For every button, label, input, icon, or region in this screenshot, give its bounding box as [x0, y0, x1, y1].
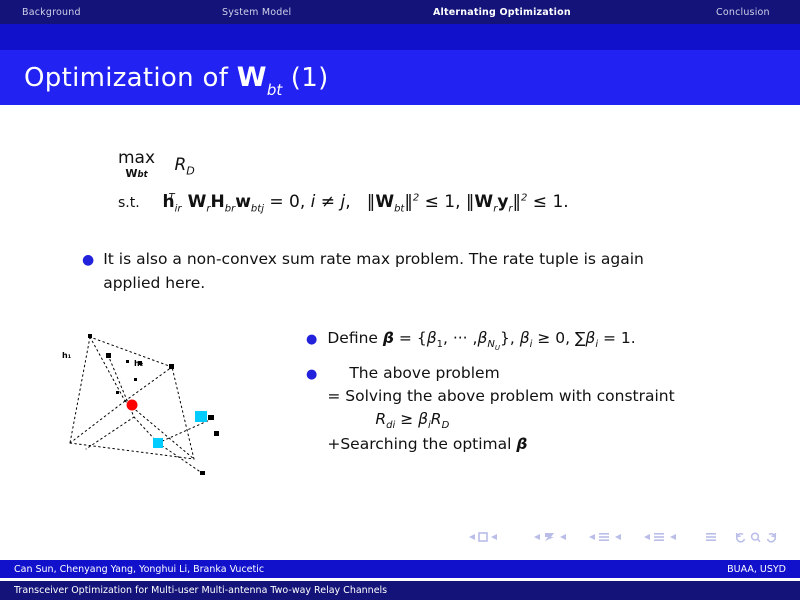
slide-prev-icon [469, 534, 475, 540]
constraint-expression: hirTWrHbrwbtj = 0, i ≠ j, ‖Wbt‖2 ≤ 1, ‖W… [163, 192, 569, 212]
page-title-suffix: (1) [282, 63, 328, 93]
footer-title-bar: Transceiver Optimization for Multi-user … [0, 581, 800, 600]
history-group[interactable] [734, 530, 778, 544]
page-title-subscript: bt [267, 81, 282, 99]
nav-slot-background[interactable]: Background [22, 7, 81, 18]
page-title-prefix: Optimization of [24, 63, 237, 93]
max-operator: max [118, 150, 155, 167]
page-title: Optimization of Wbt (1) [24, 62, 329, 96]
nav-item-background[interactable]: Background [22, 7, 81, 18]
bullet-icon: ● [306, 368, 317, 381]
list-item: ● It is also a non-convex sum rate max p… [82, 247, 702, 295]
above-problem-line3: Rdi ≥ βiRD R_di ≥ βᵢ R_D [327, 408, 674, 433]
footer-authors: Can Sun, Chenyang Yang, Yonghui Li, Bran… [14, 564, 264, 575]
section-current-icon [654, 533, 664, 541]
footer-authors-bar: Can Sun, Chenyang Yang, Yonghui Li, Bran… [0, 560, 800, 578]
back-icon [737, 534, 745, 542]
bullet-icon: ● [306, 333, 317, 346]
subsection-prev-icon [589, 534, 595, 540]
list-item: ● Define β = {β1, ··· ,βNU}, βi ≥ 0, ∑βi… [306, 327, 776, 354]
list-item: ● The above problem = Solving the above … [306, 362, 776, 457]
section-next-icon [670, 534, 676, 540]
constraint-label: s.t. [118, 195, 140, 211]
footer-paper-title: Transceiver Optimization for Multi-user … [14, 585, 387, 596]
nav-item-alternating-optimization[interactable]: Alternating Optimization [433, 7, 571, 18]
simplex-figure-svg [62, 323, 294, 498]
slide-current-icon [479, 533, 487, 541]
define-beta-text: Define β = {β1, ··· ,βNU}, βi ≥ 0, ∑βi =… [327, 327, 635, 354]
right-column-list: ● Define β = {β1, ··· ,βNU}, βi ≥ 0, ∑βi… [306, 327, 776, 464]
nav-slot-conclusion[interactable]: Conclusion [716, 7, 770, 18]
toc-icon[interactable] [704, 530, 718, 544]
nav-slot-alternating-optimization[interactable]: Alternating Optimization [433, 7, 571, 18]
max-operator-stack: max Wbt [118, 150, 155, 180]
constraint-row: s.t. hirTWrHbrwbtj = 0, i ≠ j, ‖Wbt‖2 ≤ … [118, 192, 569, 214]
slide: Background System Model Alternating Opti… [0, 0, 800, 600]
footer-affiliation: BUAA, USYD [727, 564, 786, 575]
section-navigation-group[interactable] [642, 530, 688, 544]
figure-axis-label-h1: h₁ [62, 351, 71, 360]
search-icon [752, 533, 759, 540]
user-point-1 [153, 438, 163, 448]
section-navigation-bar: Background System Model Alternating Opti… [0, 0, 800, 24]
slide-next-icon [491, 534, 497, 540]
section-prev-icon [644, 534, 650, 540]
objective-function: RD [174, 155, 194, 175]
history-icons[interactable] [734, 530, 778, 544]
nav-item-system-model[interactable]: System Model [222, 7, 291, 18]
subsection-navigation-group[interactable] [587, 530, 633, 544]
above-problem-line2: = Solving the above problem with constra… [327, 385, 674, 408]
objective-row: max Wbt RD [118, 150, 569, 180]
bullet-icon: ● [82, 253, 94, 267]
slide-body: max Wbt RD s.t. hirTWrHbrwbtj = 0, i ≠ j… [0, 105, 800, 520]
toc-group[interactable] [704, 530, 718, 544]
above-problem-line4: +Searching the optimal β +Searching the … [327, 433, 674, 456]
page-title-matrix: W [237, 62, 267, 93]
frame-navigation-group[interactable] [532, 530, 578, 544]
above-problem-block: The above problem = Solving the above pr… [327, 362, 674, 457]
rate-region-simplex-diagram: h₁ h₂ [62, 323, 294, 498]
subsection-next-icon [615, 534, 621, 540]
frame-nav-icons[interactable] [532, 530, 578, 544]
optimum-point [127, 400, 138, 411]
nav-item-conclusion[interactable]: Conclusion [716, 7, 770, 18]
section-nav-icons[interactable] [642, 530, 688, 544]
frame-next-icon [560, 534, 566, 540]
forward-icon [768, 534, 776, 542]
nav-slot-system-model[interactable]: System Model [222, 7, 291, 18]
optimization-problem: max Wbt RD s.t. hirTWrHbrwbtj = 0, i ≠ j… [118, 150, 569, 214]
navigation-strip [0, 24, 800, 50]
beamer-navigation-symbols[interactable] [0, 525, 800, 549]
above-problem-line1: The above problem [327, 362, 674, 385]
frame-current-icon [545, 533, 554, 541]
subsection-current-icon [599, 533, 609, 541]
figure-axis-label-h2: h₂ [134, 359, 143, 368]
slide-nav-icons[interactable] [467, 530, 523, 544]
max-variable: Wbt [118, 168, 155, 180]
bullet-main-text: It is also a non-convex sum rate max pro… [103, 247, 702, 295]
user-point-2 [195, 411, 207, 422]
frame-prev-icon [534, 534, 540, 540]
slide-navigation-group[interactable] [467, 530, 523, 544]
subsection-nav-icons[interactable] [587, 530, 633, 544]
